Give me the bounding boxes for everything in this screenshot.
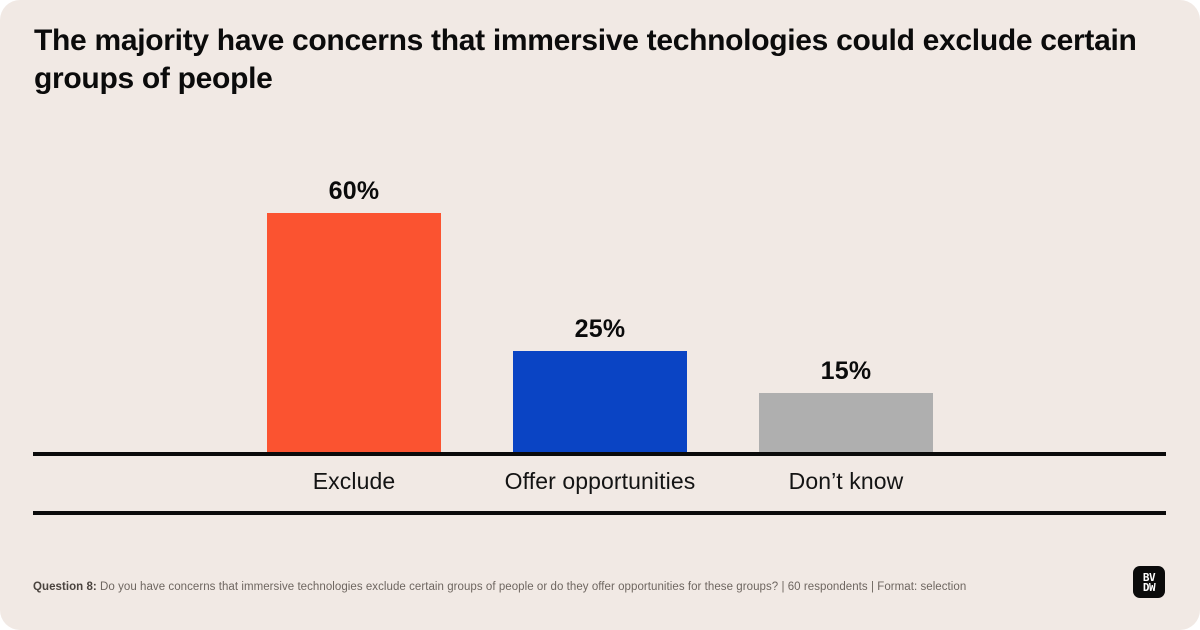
brand-logo: BV DW	[1133, 566, 1165, 598]
category-axis-labels: Exclude Offer opportunities Don’t know	[33, 468, 1166, 508]
footer-question-label: Question 8:	[33, 581, 97, 593]
category-label-dont-know: Don’t know	[706, 468, 986, 495]
bar-value-label: 25%	[513, 315, 687, 344]
axis-lower-rule	[33, 511, 1166, 515]
bar-exclude[interactable]	[267, 213, 441, 455]
bar-group-offer-opportunities: 25%	[513, 150, 687, 455]
bar-value-label: 60%	[267, 177, 441, 206]
bar-value-label: 15%	[759, 357, 933, 386]
bar-dont-know[interactable]	[759, 393, 933, 455]
bar-offer-opportunities[interactable]	[513, 351, 687, 455]
footer-source-note: Question 8: Do you have concerns that im…	[33, 580, 1093, 596]
page-title: The majority have concerns that immersiv…	[34, 22, 1154, 98]
category-label-offer-opportunities: Offer opportunities	[460, 468, 740, 495]
bar-group-dont-know: 15%	[759, 150, 933, 455]
category-label-exclude: Exclude	[214, 468, 494, 495]
bar-chart-plot-area: 60% 25% 15%	[33, 150, 1166, 455]
bar-group-exclude: 60%	[267, 150, 441, 455]
logo-text-bottom: DW	[1133, 582, 1165, 593]
axis-baseline	[33, 452, 1166, 456]
chart-card: The majority have concerns that immersiv…	[0, 0, 1200, 630]
footer-question-text: Do you have concerns that immersive tech…	[97, 581, 966, 593]
